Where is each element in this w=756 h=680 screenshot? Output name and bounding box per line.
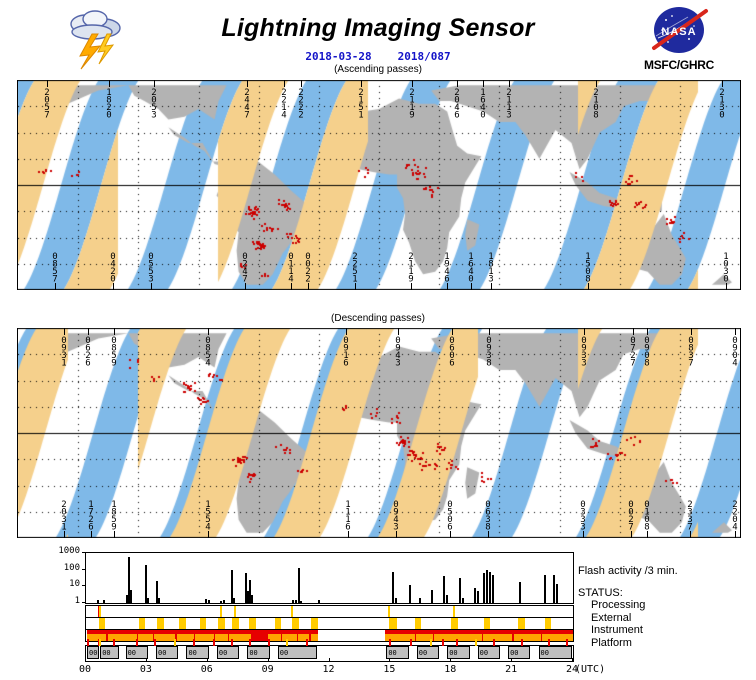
status-segment — [415, 630, 416, 641]
orbit-label-top: 2113 — [505, 88, 512, 118]
platform-cell-label: 00 — [101, 647, 110, 660]
flash-activity-bar — [556, 584, 558, 603]
orbit-tick — [208, 328, 209, 335]
flash-activity-bar — [419, 598, 421, 603]
x-tick-label: 00 — [79, 664, 91, 675]
y-tick-label: 1000 — [44, 546, 80, 556]
orbit-label-top: 0916 — [342, 336, 349, 366]
orbit-label-top: 0727 — [629, 336, 636, 366]
orbit-tick — [491, 283, 492, 290]
flash-activity-bar — [462, 598, 464, 603]
platform-cell: 00 — [156, 646, 178, 659]
orbit-label-top: 0931 — [60, 336, 67, 366]
legend-processing: Processing — [578, 599, 756, 612]
orbit-tick — [113, 283, 114, 290]
orbit-tick — [584, 328, 585, 335]
x-tick — [85, 658, 86, 662]
x-tick-label: 09 — [262, 664, 274, 675]
orbit-tick — [631, 531, 632, 538]
orbit-label-top: 2046 — [453, 88, 460, 118]
orbit-label-bottom: 1813 — [487, 252, 494, 282]
nasa-meatball-logo: NASA — [648, 6, 710, 58]
orbit-label-bottom: 0506 — [446, 500, 453, 530]
flash-activity-bar — [292, 600, 294, 603]
status-segment — [415, 618, 421, 629]
status-segment — [311, 618, 317, 629]
orbit-tick — [488, 531, 489, 538]
flash-activity-bar — [147, 598, 149, 603]
status-segment — [139, 618, 145, 629]
x-tick — [389, 658, 390, 662]
orbit-tick — [647, 531, 648, 538]
status-segment — [388, 606, 390, 617]
y-tick-label: 1 — [44, 596, 80, 606]
status-segment — [512, 630, 513, 641]
orbit-tick — [284, 80, 285, 87]
status-tick — [231, 639, 233, 646]
orbit-tick — [647, 328, 648, 335]
orbit-tick — [355, 283, 356, 290]
x-tick-label: 18 — [444, 664, 456, 675]
legend-platform: Platform — [578, 637, 756, 650]
orbit-tick — [64, 531, 65, 538]
flash-activity-bar — [205, 599, 207, 603]
orbit-label-bottom: 1859 — [110, 500, 117, 530]
platform-cell-label: 00 — [187, 647, 196, 660]
orbit-label-top: 2447 — [243, 88, 250, 118]
status-segment — [249, 618, 255, 629]
flash-activity-bar — [300, 601, 302, 603]
orbit-label-bottom: 1116 — [344, 500, 351, 530]
orbit-label-bottom: 1726 — [87, 500, 94, 530]
orbit-tick — [471, 283, 472, 290]
status-tick — [154, 639, 156, 646]
platform-cell-label: 00 — [248, 647, 257, 660]
platform-cell-label: 00 — [127, 647, 136, 660]
orbit-tick — [726, 283, 727, 290]
platform-cell-label: 00 — [479, 647, 488, 660]
x-tick — [450, 658, 451, 662]
orbit-label-bottom: 1554 — [204, 500, 211, 530]
flash-activity-bar — [223, 600, 225, 603]
x-tick — [329, 658, 330, 662]
flash-activity-bar — [443, 576, 445, 603]
orbit-tick — [301, 80, 302, 87]
status-tick — [430, 639, 432, 646]
flash-activity-bar — [483, 573, 485, 603]
orbit-label-bottom: 0943 — [392, 500, 399, 530]
orbit-tick — [588, 283, 589, 290]
date-iso: 2018-03-28 — [305, 50, 371, 63]
orbit-label-top: 2222 — [297, 88, 304, 118]
flash-activity-bar — [298, 568, 300, 603]
orbit-label-top: 0933 — [580, 336, 587, 366]
platform-cell: 00 — [186, 646, 208, 659]
status-segment — [291, 606, 293, 617]
platform-cell: 00 — [417, 646, 439, 659]
status-tick — [548, 639, 550, 646]
platform-cell: 00 — [478, 646, 500, 659]
status-segment — [275, 618, 281, 629]
x-tick — [572, 658, 573, 662]
orbit-label-bottom: 0022 — [304, 252, 311, 282]
orbit-tick — [457, 80, 458, 87]
orbit-label-bottom: 0333 — [579, 500, 586, 530]
x-tick — [268, 658, 269, 662]
flash-activity-bar — [474, 588, 476, 603]
orbit-tick — [690, 531, 691, 538]
flash-activity-bar — [489, 572, 491, 603]
orbit-tick — [64, 328, 65, 335]
orbit-tick — [447, 283, 448, 290]
flash-activity-bar — [477, 591, 479, 603]
orbit-tick — [348, 531, 349, 538]
status-segment — [309, 630, 310, 641]
legend-status-heading: STATUS: — [578, 587, 756, 600]
orbit-tick — [154, 80, 155, 87]
status-tick — [456, 639, 458, 646]
flash-activity-bar — [544, 575, 546, 603]
status-tick — [193, 639, 195, 646]
orbit-label-bottom: 1030 — [722, 252, 729, 282]
orbit-label-top: 2214 — [280, 88, 287, 118]
orbit-tick — [114, 531, 115, 538]
orbit-label-top: 2130 — [718, 88, 725, 118]
x-tick-label: 15 — [383, 664, 395, 675]
orbit-tick — [489, 328, 490, 335]
date-day-of-year: 2018/087 — [398, 50, 451, 63]
platform-cell-label: 00 — [88, 647, 97, 660]
status-tick — [174, 639, 176, 646]
orbit-label-bottom: 0027 — [627, 500, 634, 530]
platform-cell-label: 00 — [279, 647, 288, 660]
status-segment — [541, 630, 542, 641]
status-tick — [249, 639, 251, 646]
y-tick — [82, 552, 86, 553]
orbit-tick — [361, 80, 362, 87]
nasa-logo-block: NASA MSFC/GHRC — [620, 6, 738, 72]
flash-activity-plot — [85, 552, 574, 604]
status-tick — [442, 639, 444, 646]
flash-activity-bar — [492, 575, 494, 603]
orbit-label-top: 2108 — [592, 88, 599, 118]
status-tick — [475, 639, 477, 646]
x-tick-label: 21 — [505, 664, 517, 675]
platform-cell-label: 00 — [418, 647, 427, 660]
flash-activity-bar — [519, 582, 521, 603]
platform-cell-label: 00 — [157, 647, 166, 660]
orbit-label-top: 0626 — [84, 336, 91, 366]
flash-activity-panel: 1000100101 0000000000000000000000000000 … — [0, 545, 756, 680]
flash-activity-bar — [486, 570, 488, 603]
platform-cell-label: 00 — [218, 647, 227, 660]
legend-external: External — [578, 612, 756, 625]
orbit-tick — [450, 531, 451, 538]
orbit-tick — [596, 80, 597, 87]
flash-activity-bar — [553, 575, 555, 603]
status-segment — [99, 606, 101, 617]
flash-activity-bar — [220, 601, 222, 603]
orbit-tick — [483, 80, 484, 87]
status-segment — [453, 606, 455, 617]
orbit-label-top: 1640 — [479, 88, 486, 118]
status-segment — [106, 630, 107, 641]
orbit-tick — [151, 283, 152, 290]
status-tick — [306, 639, 308, 646]
status-segment — [179, 618, 185, 629]
descending-passes-map: 0931062608590854091609430606093809330727… — [17, 328, 741, 538]
orbit-label-bottom: 1640 — [467, 252, 474, 282]
x-tick-label: 03 — [140, 664, 152, 675]
status-tick — [136, 639, 138, 646]
status-segment — [292, 618, 296, 629]
panel-legend: Flash activity /3 min. STATUS: Processin… — [578, 565, 756, 649]
flash-activity-bar — [392, 572, 394, 603]
legend-instrument: Instrument — [578, 624, 756, 637]
orbit-label-bottom: 0108 — [643, 500, 650, 530]
orbit-tick — [691, 328, 692, 335]
platform-cell: 00 — [539, 646, 572, 659]
orbit-label-bottom: 0420 — [109, 252, 116, 282]
orbit-label-top: 0943 — [394, 336, 401, 366]
status-segment — [281, 630, 282, 641]
svg-text:NASA: NASA — [661, 26, 696, 38]
y-tick — [82, 602, 86, 603]
orbit-label-top: 0837 — [687, 336, 694, 366]
orbit-tick — [308, 283, 309, 290]
orbit-tick — [245, 283, 246, 290]
orbit-label-bottom: 0247 — [241, 252, 248, 282]
status-segment — [297, 630, 298, 641]
orbit-label-bottom: 2031 — [60, 500, 67, 530]
orbit-tick — [583, 531, 584, 538]
orbit-label-bottom: 1508 — [584, 252, 591, 282]
status-segment — [234, 618, 238, 629]
status-segment — [433, 630, 434, 641]
status-segment — [99, 618, 105, 629]
orbit-tick — [47, 80, 48, 87]
subtitle-descending: (Descending passes) — [0, 313, 756, 324]
orbit-label-top: 0854 — [204, 336, 211, 366]
status-tick — [286, 639, 288, 646]
orbit-tick — [722, 80, 723, 87]
utc-label: (UTC) — [575, 664, 605, 675]
status-tick — [389, 639, 391, 646]
orbit-label-bottom: 0638 — [484, 500, 491, 530]
status-tick — [268, 639, 270, 646]
orbit-tick — [208, 531, 209, 538]
status-segment — [87, 630, 318, 634]
status-tick — [99, 639, 101, 646]
status-tick — [213, 639, 215, 646]
flash-activity-bar — [409, 585, 411, 603]
status-segment — [484, 618, 490, 629]
x-tick — [207, 658, 208, 662]
status-segment — [221, 618, 225, 629]
orbit-label-top: 1820 — [105, 88, 112, 118]
flash-activity-bar — [251, 595, 253, 603]
platform-cell: 00 — [126, 646, 148, 659]
x-tick-label: 06 — [201, 664, 213, 675]
orbit-label-bottom: 0553 — [147, 252, 154, 282]
orbit-tick — [735, 531, 736, 538]
orbit-label-bottom: 0114 — [287, 252, 294, 282]
platform-cell: 00 — [217, 646, 239, 659]
status-segment — [545, 618, 551, 629]
center-label: MSFC/GHRC — [620, 58, 738, 72]
status-segment — [234, 606, 236, 617]
flash-activity-bar — [233, 598, 235, 603]
status-tick — [410, 639, 412, 646]
status-segment — [200, 618, 206, 629]
orbit-tick — [346, 328, 347, 335]
orbit-tick — [398, 328, 399, 335]
orbit-tick — [114, 328, 115, 335]
orbit-tick — [109, 80, 110, 87]
page-header: Lightning Imaging Sensor 2018-03-282018/… — [0, 0, 756, 78]
status-segment — [389, 618, 393, 629]
orbit-label-top: 0904 — [731, 336, 738, 366]
status-segment — [157, 618, 163, 629]
orbit-tick — [55, 283, 56, 290]
status-segment — [385, 630, 572, 634]
status-segment — [518, 618, 524, 629]
platform-cell: 00 — [278, 646, 318, 659]
platform-cell: 00 — [100, 646, 119, 659]
platform-cell-label: 00 — [540, 647, 549, 660]
flash-activity-bar — [459, 578, 461, 603]
orbit-tick — [91, 531, 92, 538]
flash-activity-bar — [103, 600, 105, 603]
orbit-label-bottom: 2251 — [351, 252, 358, 282]
flash-activity-bar — [97, 600, 99, 603]
flash-activity-bar — [295, 600, 297, 603]
status-segment — [482, 630, 483, 641]
status-tick — [493, 639, 495, 646]
orbit-tick — [633, 328, 634, 335]
flash-activity-bar — [431, 590, 433, 603]
orbit-tick — [735, 328, 736, 335]
orbit-tick — [452, 328, 453, 335]
orbit-tick — [88, 328, 89, 335]
status-row-instrument — [85, 629, 574, 642]
flash-activity-bar — [446, 595, 448, 603]
y-tick — [82, 585, 86, 586]
legend-flash-activity: Flash activity /3 min. — [578, 565, 756, 578]
orbit-label-bottom: 2119 — [407, 252, 414, 282]
orbit-tick — [291, 283, 292, 290]
flash-activity-bar — [318, 600, 320, 603]
x-tick — [146, 658, 147, 662]
orbit-tick — [411, 283, 412, 290]
flash-activity-bar — [208, 600, 210, 603]
orbit-tick — [396, 531, 397, 538]
status-row-platform: 0000000000000000000000000000 — [85, 645, 574, 662]
orbit-label-top: 0859 — [110, 336, 117, 366]
x-tick-label: 12 — [322, 664, 334, 675]
status-tick — [566, 639, 568, 646]
flash-activity-bar — [130, 590, 132, 603]
orbit-label-top: 2151 — [357, 88, 364, 118]
platform-cell: 00 — [247, 646, 269, 659]
status-segment — [228, 630, 229, 641]
y-tick-label: 10 — [44, 579, 80, 589]
x-tick — [511, 658, 512, 662]
status-segment — [251, 630, 267, 641]
orbit-label-top: 0606 — [448, 336, 455, 366]
orbit-label-bottom: 0857 — [51, 252, 58, 282]
flash-activity-bar — [158, 598, 160, 603]
orbit-label-top: 2053 — [150, 88, 157, 118]
orbit-label-top: 2119 — [408, 88, 415, 118]
flash-activity-bar — [395, 598, 397, 603]
orbit-label-top: 0938 — [485, 336, 492, 366]
orbit-tick — [247, 80, 248, 87]
y-tick-label: 100 — [44, 563, 80, 573]
status-tick — [87, 639, 89, 646]
y-tick — [82, 569, 86, 570]
status-tick — [521, 639, 523, 646]
orbit-label-bottom: 2337 — [686, 500, 693, 530]
orbit-label-bottom: 1946 — [443, 252, 450, 282]
orbit-label-top: 0908 — [643, 336, 650, 366]
platform-cell: 00 — [87, 646, 99, 659]
status-segment — [451, 618, 457, 629]
status-tick — [113, 639, 115, 646]
orbit-tick — [509, 80, 510, 87]
orbit-label-top: 2057 — [43, 88, 50, 118]
status-segment — [220, 606, 222, 617]
map-canvas — [18, 80, 740, 290]
orbit-label-bottom: 2204 — [731, 500, 738, 530]
orbit-tick — [412, 80, 413, 87]
ascending-passes-map: 2057182020532447221422222151211920461640… — [17, 80, 741, 290]
